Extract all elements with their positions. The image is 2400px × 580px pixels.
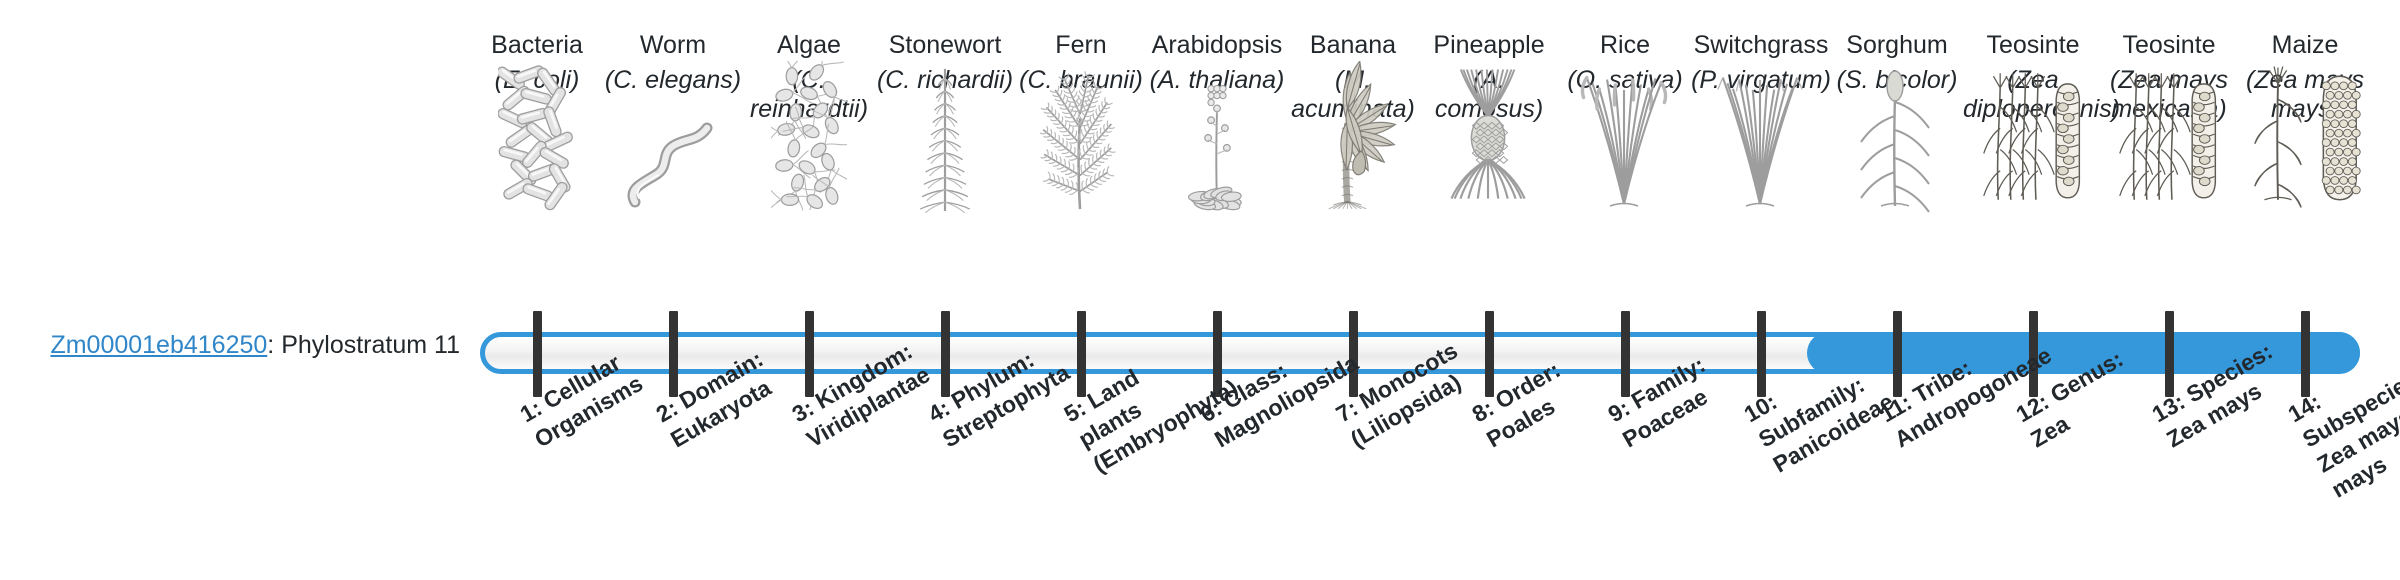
stratum-tick	[2165, 311, 2174, 397]
species-column: Worm(C. elegans)	[603, 30, 743, 95]
species-column: Maize(Zea mays mays)	[2235, 30, 2375, 124]
species-illustration-banana	[1283, 118, 1423, 213]
species-column: Teosinte(Zea diploperennis)	[1963, 30, 2103, 124]
species-illustration-fern	[1011, 118, 1151, 213]
species-illustration-worm	[603, 118, 743, 213]
species-column: Pineapple(A. comosus)	[1419, 30, 1559, 124]
species-header-row: Bacteria(E. coli)	[468, 30, 2368, 320]
species-common-name: Worm	[603, 30, 743, 60]
species-illustration-sorghum	[1827, 118, 1967, 213]
species-column: Rice(O. sativa)	[1555, 30, 1695, 95]
species-common-name: Teosinte	[2099, 30, 2239, 60]
species-illustration-maize	[2235, 118, 2375, 213]
species-common-name: Teosinte	[1963, 30, 2103, 60]
species-common-name: Algae	[739, 30, 879, 60]
stratum-tick	[669, 311, 678, 397]
stratum-tick	[805, 311, 814, 397]
stratum-tick	[941, 311, 950, 397]
species-common-name: Bacteria	[467, 30, 607, 60]
species-illustration-arabidopsis	[1147, 118, 1287, 213]
species-common-name: Pineapple	[1419, 30, 1559, 60]
species-column: Banana(M. acuminata)	[1283, 30, 1423, 124]
species-common-name: Rice	[1555, 30, 1695, 60]
stratum-tick	[1757, 311, 1766, 397]
species-column: Bacteria(E. coli)	[467, 30, 607, 95]
species-column: Fern(C. braunii)	[1011, 30, 1151, 95]
species-illustration-bacteria	[467, 118, 607, 213]
gene-label-separator: :	[267, 331, 281, 359]
stratum-tick	[1621, 311, 1630, 397]
stratum-tick	[533, 311, 542, 397]
stratum-tick	[1485, 311, 1494, 397]
species-illustration-rice	[1555, 118, 1695, 213]
stratum-name: Subfamily: Panicoideae	[1754, 371, 1898, 477]
species-illustration-teosinte	[1963, 118, 2103, 213]
gene-id-link[interactable]: Zm00001eb416250	[50, 331, 267, 359]
species-common-name: Arabidopsis	[1147, 30, 1287, 60]
phylostratigraphy-figure: Zm00001eb416250: Phylostratum 11 Bacteri…	[0, 0, 2400, 580]
species-column: Sorghum(S. bicolor)	[1827, 30, 1967, 95]
species-column: Arabidopsis(A. thaliana)	[1147, 30, 1287, 95]
stratum-tick	[2301, 311, 2310, 397]
species-common-name: Banana	[1283, 30, 1423, 60]
stratum-tick	[1077, 311, 1086, 397]
species-scientific-name: (C. elegans)	[603, 66, 743, 95]
species-column: Stonewort(C. richardii)	[875, 30, 1015, 95]
species-illustration-pineapple	[1419, 118, 1559, 213]
species-illustration-algae	[739, 118, 879, 213]
stratum-name: Subspecies: Zea mays mays	[2298, 362, 2400, 502]
species-common-name: Maize	[2235, 30, 2375, 60]
species-common-name: Stonewort	[875, 30, 1015, 60]
phylostratum-value: Phylostratum 11	[281, 331, 460, 359]
species-common-name: Switchgrass	[1691, 30, 1831, 60]
species-column: Switchgrass(P. virgatum)	[1691, 30, 1831, 95]
species-illustration-stonewort	[875, 118, 1015, 213]
species-column: Teosinte(Zea mays mexicana)	[2099, 30, 2239, 124]
species-illustration-switchgrass	[1691, 118, 1831, 213]
species-common-name: Fern	[1011, 30, 1151, 60]
species-common-name: Sorghum	[1827, 30, 1967, 60]
species-column: Algae(C. reinhardtii)	[739, 30, 879, 124]
gene-phylostratum-label: Zm00001eb416250: Phylostratum 11	[0, 330, 460, 360]
species-illustration-teosinte	[2099, 118, 2239, 213]
